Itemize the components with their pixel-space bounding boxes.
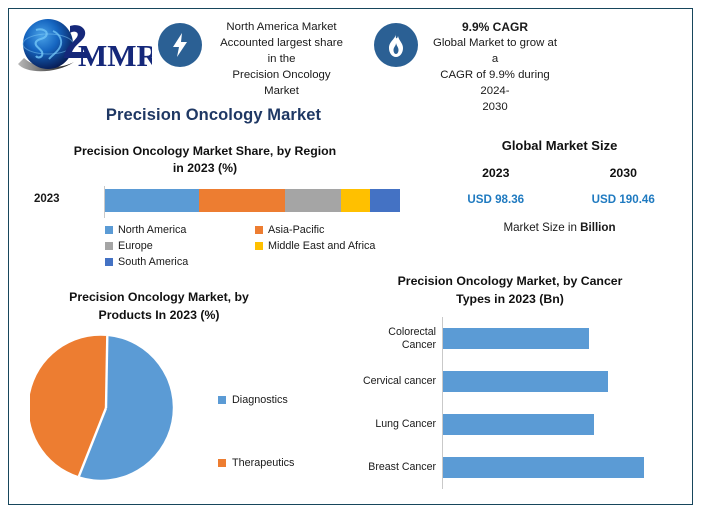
products-pie-plot-area: Diagnostics Therapeutics [14, 332, 344, 487]
global-market-size-title: Global Market Size [432, 138, 687, 153]
cancer-bar-cervical[interactable] [443, 371, 608, 392]
cancer-label-breast: Breast Cancer [350, 461, 442, 474]
global-market-size-panel: Global Market Size 2023 2030 USD 98.36 U… [432, 138, 687, 234]
products-share-chart-title: Precision Oncology Market, by Products I… [14, 288, 304, 324]
cancer-title-line1: Precision Oncology Market, by Cancer [398, 274, 623, 288]
badge1-line2: Accounted largest share in the [220, 37, 343, 65]
badge1-line1: North America Market [226, 21, 336, 33]
cancer-label-breast-line1: Breast Cancer [368, 461, 436, 473]
lightning-bolt-icon [158, 23, 202, 67]
flame-icon [374, 23, 418, 67]
region-share-chart-title: Precision Oncology Market Share, by Regi… [20, 143, 390, 177]
infographic-canvas: MMR North America Market Accounted large… [0, 0, 701, 519]
lightning-bolt-glyph [170, 32, 190, 58]
legend-label-europe: Europe [118, 240, 153, 252]
legend-label-middle-east-africa: Middle East and Africa [268, 240, 375, 252]
header-badge-cagr-text: 9.9% CAGR Global Market to grow at a CAG… [431, 10, 559, 115]
cancer-label-cervical: Cervical cancer [350, 375, 442, 388]
cancer-types-chart: Precision Oncology Market, by Cancer Typ… [350, 272, 695, 489]
cancer-label-cervical-line1: Cervical cancer [363, 375, 436, 387]
legend-label-asia-pacific: Asia-Pacific [268, 224, 324, 236]
cancer-bar-colorectal[interactable] [443, 328, 589, 349]
gms-value-2023: USD 98.36 [441, 193, 551, 206]
cancer-title-line2: Types in 2023 (Bn) [456, 292, 564, 306]
legend-swatch-south-america [105, 258, 113, 266]
flame-glyph [386, 32, 406, 58]
products-share-chart: Precision Oncology Market, by Products I… [14, 288, 344, 487]
region-segment-middle-east-africa[interactable] [341, 189, 371, 212]
pie-legend-label-diagnostics: Diagnostics [232, 394, 288, 406]
cancer-row-breast: Breast Cancer [350, 446, 670, 489]
header-badge-north-america-text: North America Market Accounted largest s… [215, 10, 348, 99]
gms-year-2030: 2030 [568, 166, 678, 180]
header-badge-north-america: North America Market Accounted largest s… [158, 10, 348, 99]
badge2-bold-line: 9.9% CAGR [431, 19, 559, 35]
badge2-line1: Global Market to grow at a [433, 37, 557, 65]
legend-swatch-asia-pacific [255, 226, 263, 234]
cancer-label-colorectal: Colorectal Cancer [350, 326, 442, 352]
mmr-logo-text: MMR [78, 38, 152, 73]
legend-swatch-middle-east-africa [255, 242, 263, 250]
legend-item-middle-east-africa[interactable]: Middle East and Africa [255, 238, 405, 254]
cancer-label-colorectal-line1: Colorectal [388, 326, 436, 338]
global-market-size-values: USD 98.36 USD 190.46 [432, 193, 687, 206]
badge2-line3: 2030 [482, 101, 507, 113]
legend-item-north-america[interactable]: North America [105, 222, 255, 238]
header: MMR North America Market Accounted large… [10, 10, 691, 95]
legend-label-north-america: North America [118, 224, 186, 236]
cancer-row-colorectal: Colorectal Cancer [350, 317, 670, 360]
pie-title-line2: Products In 2023 (%) [99, 308, 220, 322]
cancer-types-plot-area: Colorectal Cancer Cervical cancer Lung C… [350, 317, 670, 489]
badge1-line3: Precision Oncology Market [232, 69, 330, 97]
pie-legend-item-therapeutics[interactable]: Therapeutics [218, 457, 294, 469]
region-bar-year-label: 2023 [34, 193, 60, 205]
pie-divider-top [106, 336, 107, 408]
pie-title-line1: Precision Oncology Market, by [69, 290, 249, 304]
region-segment-south-america[interactable] [370, 189, 400, 212]
cancer-row-cervical: Cervical cancer [350, 360, 670, 403]
legend-item-asia-pacific[interactable]: Asia-Pacific [255, 222, 405, 238]
region-segment-north-america[interactable] [105, 189, 199, 212]
header-badge-cagr: 9.9% CAGR Global Market to grow at a CAG… [374, 10, 559, 115]
gms-note-unit: Billion [580, 221, 615, 234]
gms-year-2023: 2023 [441, 166, 551, 180]
legend-label-south-america: South America [118, 256, 188, 268]
badge2-line2: CAGR of 9.9% during 2024- [440, 69, 550, 97]
region-segment-europe[interactable] [285, 189, 341, 212]
cancer-label-lung: Lung Cancer [350, 418, 442, 431]
region-bar-plot-area: 2023 [20, 186, 410, 218]
region-stacked-bar [105, 189, 400, 212]
gms-value-2030: USD 190.46 [568, 193, 678, 206]
cancer-bar-breast[interactable] [443, 457, 644, 478]
cancer-label-colorectal-line2: Cancer [402, 339, 436, 351]
mmr-logo-graphic: MMR [16, 14, 152, 76]
pie-legend-item-diagnostics[interactable]: Diagnostics [218, 394, 288, 406]
pie-legend-swatch-diagnostics [218, 396, 226, 404]
region-segment-asia-pacific[interactable] [199, 189, 285, 212]
legend-item-europe[interactable]: Europe [105, 238, 255, 254]
legend-item-south-america[interactable]: South America [105, 254, 255, 270]
global-market-size-years: 2023 2030 [432, 166, 687, 180]
mmr-globe-logo[interactable]: MMR [10, 10, 158, 90]
cancer-bar-lung[interactable] [443, 414, 594, 435]
cancer-row-lung: Lung Cancer [350, 403, 670, 446]
gms-note-prefix: Market Size in [503, 221, 580, 234]
page-title: Precision Oncology Market [0, 106, 427, 125]
legend-swatch-north-america [105, 226, 113, 234]
global-market-size-note: Market Size in Billion [432, 221, 687, 234]
cancer-label-lung-line1: Lung Cancer [375, 418, 436, 430]
legend-swatch-europe [105, 242, 113, 250]
region-share-chart: Precision Oncology Market Share, by Regi… [20, 143, 410, 270]
region-title-line2: in 2023 (%) [173, 161, 237, 175]
region-title-line1: Precision Oncology Market Share, by Regi… [74, 144, 336, 158]
cancer-types-chart-title: Precision Oncology Market, by Cancer Typ… [350, 272, 670, 308]
region-chart-legend: North America Asia-Pacific Europe Middle… [105, 222, 405, 270]
pie-legend-label-therapeutics: Therapeutics [232, 457, 294, 469]
pie-legend-swatch-therapeutics [218, 459, 226, 467]
products-pie-graphic [30, 332, 182, 484]
